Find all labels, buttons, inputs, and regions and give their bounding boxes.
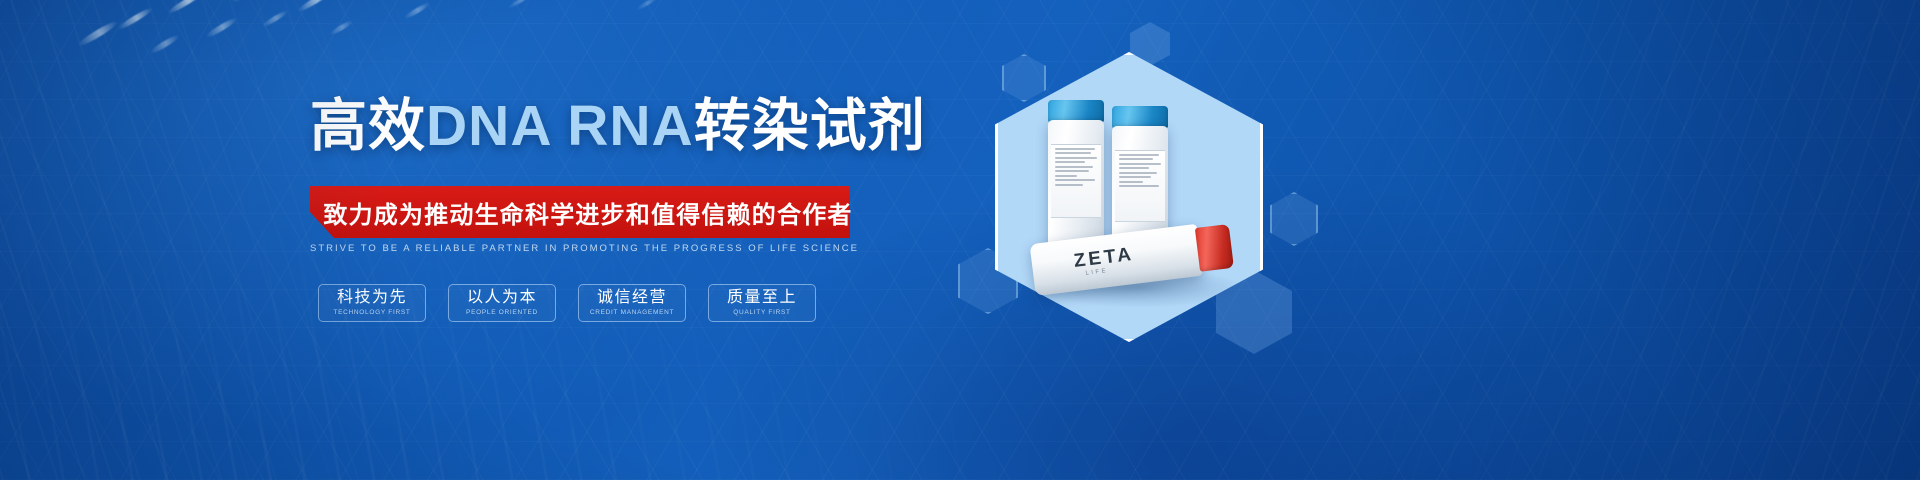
banner-vignette-overlay (0, 0, 1920, 480)
promo-banner: 高效DNA RNA转染试剂 致力成为推动生命科学进步和值得信赖的合作者 STRI… (0, 0, 1920, 480)
